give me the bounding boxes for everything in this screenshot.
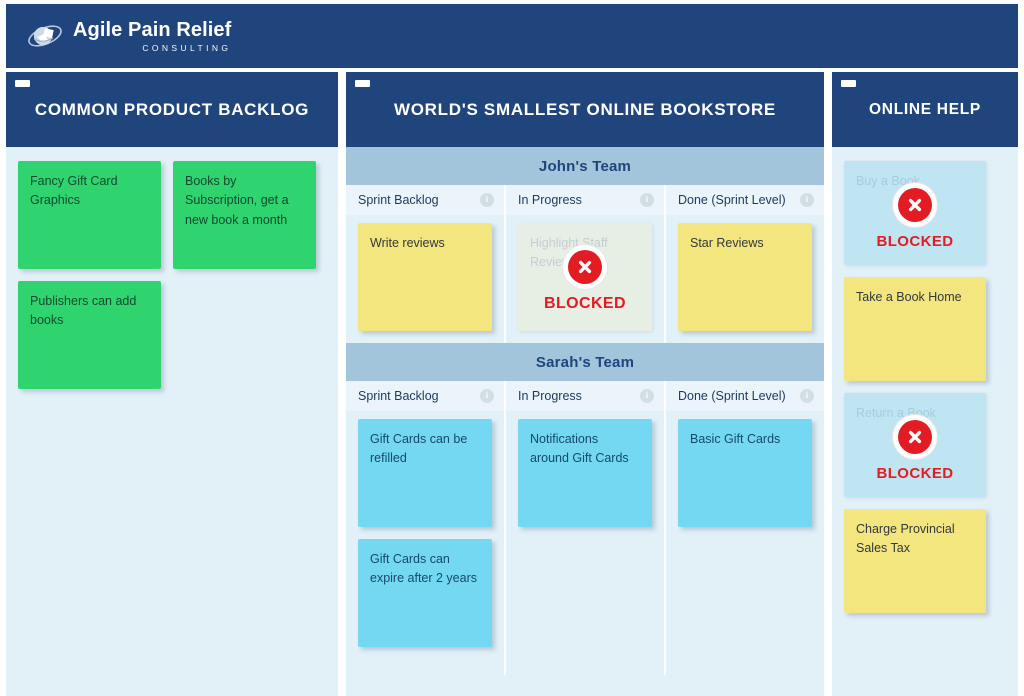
swimlane-sarahs-team: Sprint Backlog i Gift Cards can be refil… <box>346 381 824 675</box>
note-text: Basic Gift Cards <box>690 430 800 449</box>
blocked-overlay: BLOCKED <box>844 415 986 482</box>
lane-label: Sprint Backlog <box>358 193 439 207</box>
lane-label: In Progress <box>518 389 582 403</box>
lane-header: In Progress i <box>506 185 664 215</box>
collapse-icon[interactable] <box>355 80 370 87</box>
lane-header: Sprint Backlog i <box>346 381 504 411</box>
lane-body: Basic Gift Cards <box>666 411 824 675</box>
lane-sprint-backlog: Sprint Backlog i Write reviews <box>346 185 506 343</box>
sticky-note-blocked[interactable]: Highlight Staff Reviews BLOCKED <box>518 223 652 331</box>
note-text: Return a Book <box>856 404 974 423</box>
column-title-right: ONLINE HELP <box>855 101 995 119</box>
info-icon[interactable]: i <box>480 193 494 207</box>
column-title-left: COMMON PRODUCT BACKLOG <box>21 100 323 120</box>
info-icon[interactable]: i <box>800 193 814 207</box>
globe-orbit-logo-icon <box>26 20 64 52</box>
sticky-note[interactable]: Write reviews <box>358 223 492 331</box>
blocked-label: BLOCKED <box>544 295 626 313</box>
note-text: Write reviews <box>370 234 480 253</box>
note-text: Gift Cards can be refilled <box>370 430 480 469</box>
info-icon[interactable]: i <box>480 389 494 403</box>
collapse-icon[interactable] <box>841 80 856 87</box>
column-title-center: WORLD'S SMALLEST ONLINE BOOKSTORE <box>380 100 790 120</box>
column-online-help: ONLINE HELP Buy a Book BLOCKED <box>832 72 1018 696</box>
lane-body: Highlight Staff Reviews BLOCKED <box>506 215 664 343</box>
sticky-note[interactable]: Take a Book Home <box>844 277 986 381</box>
backlog-note-grid: Fancy Gift Card Graphics Books by Subscr… <box>18 161 326 389</box>
sticky-note[interactable]: Gift Cards can be refilled <box>358 419 492 527</box>
lane-header: Sprint Backlog i <box>346 185 504 215</box>
brand-tagline: CONSULTING <box>73 44 231 53</box>
column-body-left: Fancy Gift Card Graphics Books by Subscr… <box>6 147 338 696</box>
lane-label: Sprint Backlog <box>358 389 439 403</box>
column-body-right: Buy a Book BLOCKED Take a Bo <box>832 147 1018 696</box>
sticky-note[interactable]: Star Reviews <box>678 223 812 331</box>
sticky-note[interactable]: Publishers can add books <box>18 281 161 389</box>
sticky-note[interactable]: Basic Gift Cards <box>678 419 812 527</box>
lane-body: Gift Cards can be refilled Gift Cards ca… <box>346 411 504 675</box>
note-text: Buy a Book <box>856 172 974 191</box>
note-text: Publishers can add books <box>30 292 149 331</box>
swimlane-johns-team: Sprint Backlog i Write reviews In Progre… <box>346 185 824 343</box>
sticky-note-blocked[interactable]: Buy a Book BLOCKED <box>844 161 986 265</box>
sticky-note[interactable]: Books by Subscription, get a new book a … <box>173 161 316 269</box>
lane-label: In Progress <box>518 193 582 207</box>
sticky-note[interactable]: Notifications around Gift Cards <box>518 419 652 527</box>
brand-name: Agile Pain Relief <box>73 20 231 40</box>
column-worlds-smallest-online-bookstore: WORLD'S SMALLEST ONLINE BOOKSTORE John's… <box>346 72 824 696</box>
note-text: Gift Cards can expire after 2 years <box>370 550 480 589</box>
column-common-product-backlog: COMMON PRODUCT BACKLOG Fancy Gift Card G… <box>6 72 338 696</box>
kanban-board: Agile Pain Relief CONSULTING COMMON PROD… <box>0 0 1024 696</box>
lane-in-progress: In Progress i Highlight Staff Reviews <box>506 185 666 343</box>
note-text: Fancy Gift Card Graphics <box>30 172 149 211</box>
note-text: Take a Book Home <box>856 288 974 307</box>
online-help-note-stack: Buy a Book BLOCKED Take a Bo <box>844 161 1006 613</box>
note-text: Highlight Staff Reviews <box>530 234 640 273</box>
lane-header: Done (Sprint Level) i <box>666 381 824 411</box>
team-name: John's Team <box>539 158 631 175</box>
column-header-left: COMMON PRODUCT BACKLOG <box>6 72 338 147</box>
note-text: Star Reviews <box>690 234 800 253</box>
brand-header: Agile Pain Relief CONSULTING <box>6 4 1018 68</box>
team-band-sarahs: Sarah's Team <box>346 343 824 381</box>
brand-logo[interactable]: Agile Pain Relief CONSULTING <box>26 20 231 53</box>
info-icon[interactable]: i <box>800 389 814 403</box>
lane-sprint-backlog: Sprint Backlog i Gift Cards can be refil… <box>346 381 506 675</box>
sticky-note[interactable]: Charge Provincial Sales Tax <box>844 509 986 613</box>
lane-header: In Progress i <box>506 381 664 411</box>
sticky-note[interactable]: Fancy Gift Card Graphics <box>18 161 161 269</box>
sticky-note[interactable]: Gift Cards can expire after 2 years <box>358 539 492 647</box>
lane-label: Done (Sprint Level) <box>678 193 786 207</box>
team-name: Sarah's Team <box>536 354 634 371</box>
lane-done-sprint-level: Done (Sprint Level) i Basic Gift Cards <box>666 381 824 675</box>
lane-body: Notifications around Gift Cards <box>506 411 664 675</box>
blocked-overlay: BLOCKED <box>844 183 986 250</box>
column-header-center: WORLD'S SMALLEST ONLINE BOOKSTORE <box>346 72 824 147</box>
blocked-label: BLOCKED <box>877 465 954 482</box>
lane-body: Write reviews <box>346 215 504 343</box>
team-band-johns: John's Team <box>346 147 824 185</box>
lane-label: Done (Sprint Level) <box>678 389 786 403</box>
lane-body: Star Reviews <box>666 215 824 343</box>
lane-done-sprint-level: Done (Sprint Level) i Star Reviews <box>666 185 824 343</box>
note-text: Notifications around Gift Cards <box>530 430 640 469</box>
info-icon[interactable]: i <box>640 389 654 403</box>
collapse-icon[interactable] <box>15 80 30 87</box>
lane-in-progress: In Progress i Notifications around Gift … <box>506 381 666 675</box>
column-header-right: ONLINE HELP <box>832 72 1018 147</box>
lane-header: Done (Sprint Level) i <box>666 185 824 215</box>
note-text: Books by Subscription, get a new book a … <box>185 172 304 230</box>
sticky-note-blocked[interactable]: Return a Book BLOCKED <box>844 393 986 497</box>
info-icon[interactable]: i <box>640 193 654 207</box>
blocked-label: BLOCKED <box>877 233 954 250</box>
note-text: Charge Provincial Sales Tax <box>856 520 974 559</box>
